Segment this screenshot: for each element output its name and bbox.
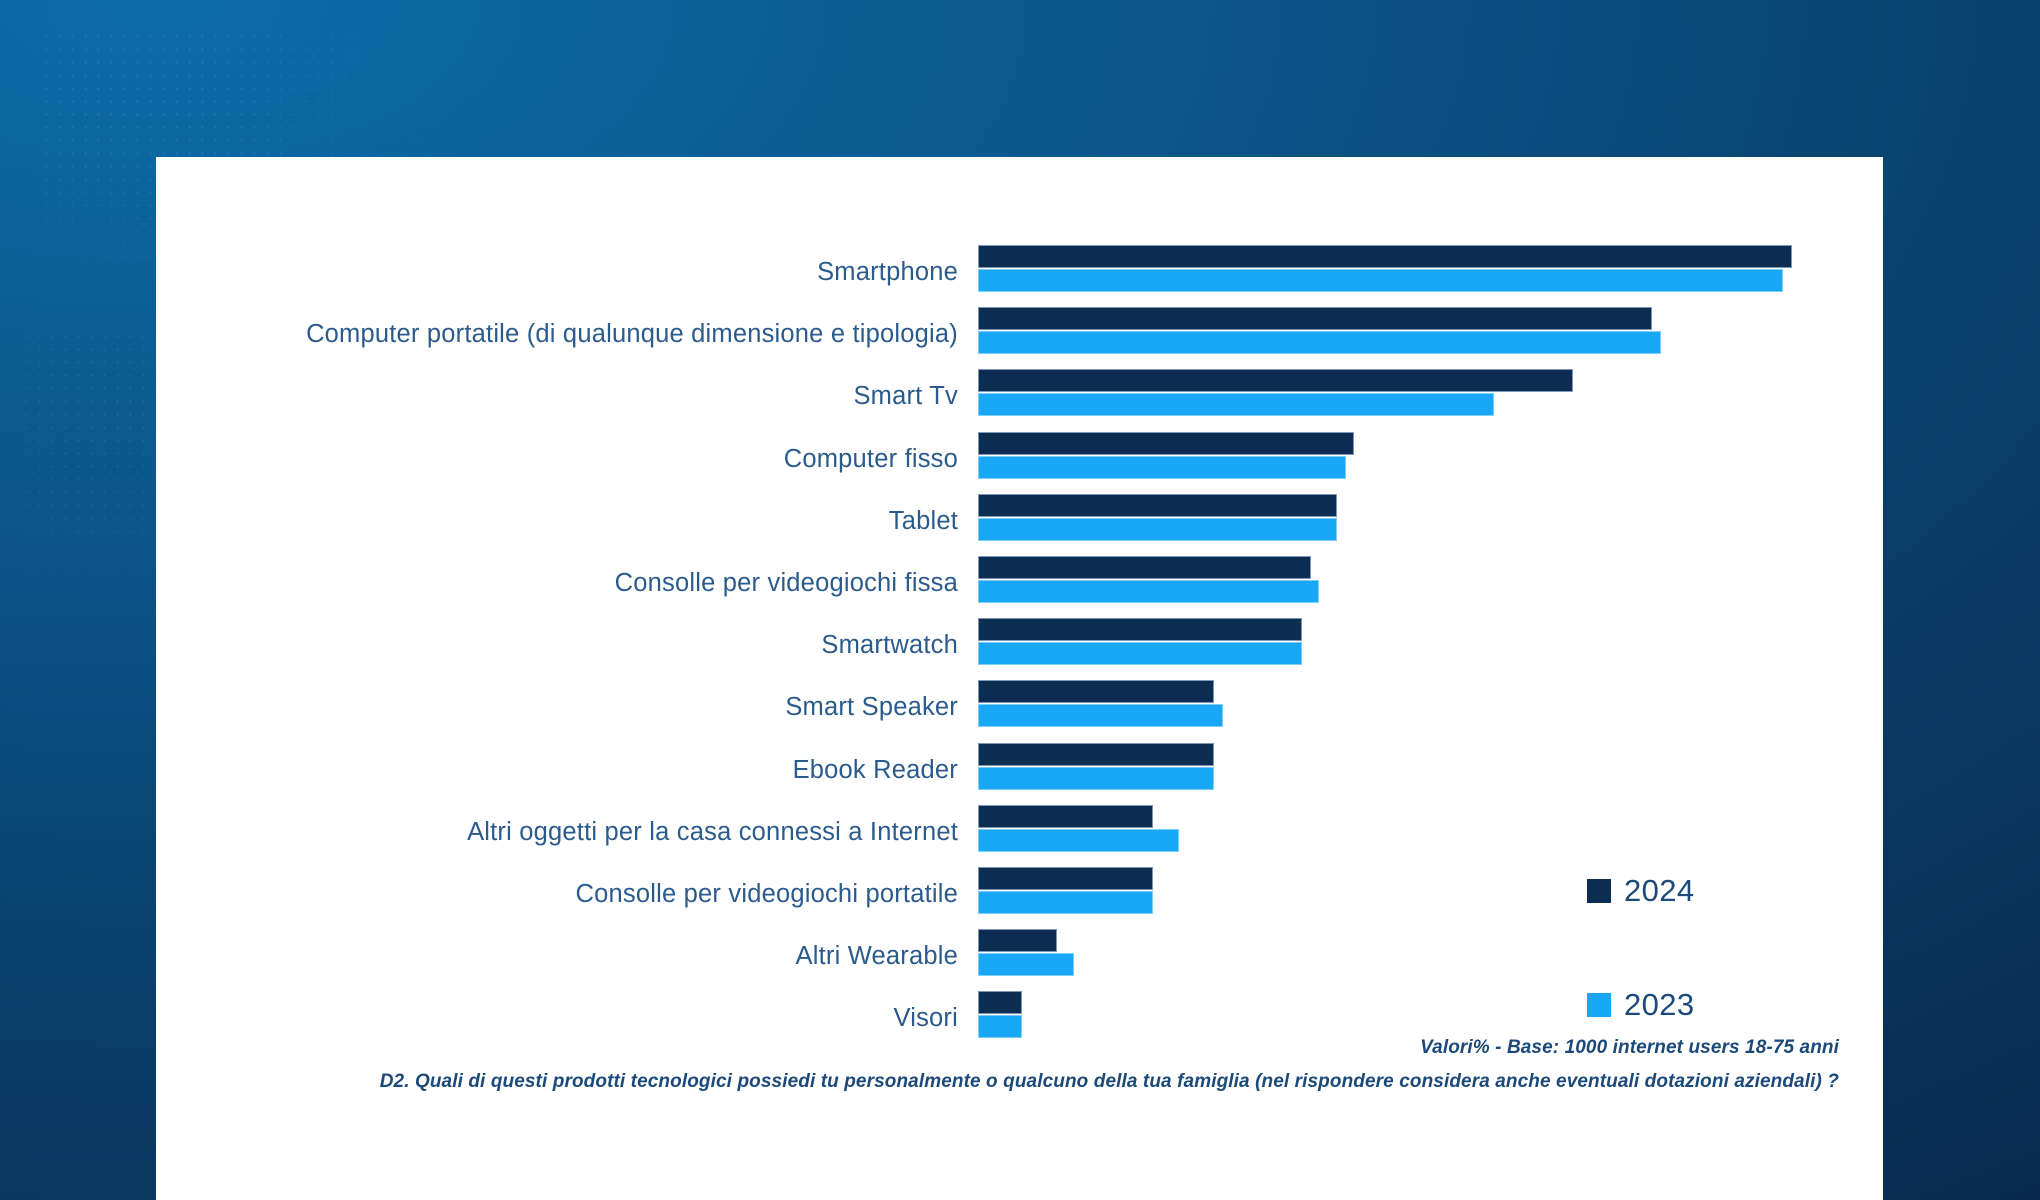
category-label: Altri oggetti per la casa connessi a Int… [156,818,978,846]
bar-group [978,241,1883,303]
bar-2024-1[interactable] [978,307,1652,330]
bar-group [978,490,1883,552]
chart-card: SmartphoneComputer portatile (di qualunq… [156,157,1883,1200]
slide: SmartphoneComputer portatile (di qualunq… [0,0,2040,1200]
category-label: Consolle per videogiochi portatile [156,880,978,908]
bar-2023-9[interactable] [978,829,1179,852]
bar-2024-7[interactable] [978,680,1214,703]
chart-row: Ebook Reader [156,739,1883,801]
bar-group [978,552,1883,614]
bar-2023-2[interactable] [978,393,1494,416]
chart-row: Consolle per videogiochi fissa [156,552,1883,614]
bar-2024-5[interactable] [978,556,1311,579]
bar-group [978,801,1883,863]
chart-row: Smartphone [156,241,1883,303]
chart-row: Computer fisso [156,428,1883,490]
bar-2024-12[interactable] [978,991,1022,1014]
bar-2024-6[interactable] [978,618,1302,641]
bar-2023-10[interactable] [978,891,1153,914]
chart-row: Tablet [156,490,1883,552]
category-label: Computer fisso [156,445,978,473]
bar-2023-8[interactable] [978,767,1214,790]
bar-group [978,739,1883,801]
category-label: Visori [156,1004,978,1032]
question-note: D2. Quali di questi prodotti tecnologici… [156,1071,1839,1093]
bar-group [978,676,1883,738]
bar-2023-5[interactable] [978,580,1319,603]
bar-2023-6[interactable] [978,642,1302,665]
chart-row: Smart Speaker [156,676,1883,738]
bar-2024-2[interactable] [978,369,1573,392]
category-label: Smart Speaker [156,693,978,721]
category-label: Computer portatile (di qualunque dimensi… [156,320,978,348]
chart-row: Smartwatch [156,614,1883,676]
bar-group [978,303,1883,365]
category-label: Ebook Reader [156,756,978,784]
bar-2024-3[interactable] [978,432,1354,455]
bar-2024-11[interactable] [978,929,1057,952]
bar-2023-1[interactable] [978,331,1661,354]
category-label: Altri Wearable [156,942,978,970]
chart-row: Smart Tv [156,365,1883,427]
legend-label-2023: 2023 [1624,987,1695,1023]
bar-group [978,428,1883,490]
bar-2023-7[interactable] [978,704,1223,727]
bar-2023-11[interactable] [978,953,1074,976]
bar-group [978,365,1883,427]
bar-chart: SmartphoneComputer portatile (di qualunq… [156,157,1883,1200]
bar-2024-8[interactable] [978,743,1214,766]
chart-legend: 2024 2023 [1587,873,1827,1101]
legend-swatch-2024-icon [1587,879,1611,903]
legend-label-2024: 2024 [1624,873,1695,909]
bar-2024-0[interactable] [978,245,1792,268]
bar-2023-4[interactable] [978,518,1337,541]
base-note: Valori% - Base: 1000 internet users 18-7… [1420,1037,1839,1059]
legend-swatch-2023-icon [1587,993,1611,1017]
category-label: Smart Tv [156,382,978,410]
chart-row: Computer portatile (di qualunque dimensi… [156,303,1883,365]
category-label: Consolle per videogiochi fissa [156,569,978,597]
legend-item-2024[interactable]: 2024 [1587,873,1827,909]
bar-2023-3[interactable] [978,456,1346,479]
category-label: Smartphone [156,258,978,286]
bar-2023-0[interactable] [978,269,1783,292]
legend-item-2023[interactable]: 2023 [1587,987,1827,1023]
bar-2024-4[interactable] [978,494,1337,517]
bar-2023-12[interactable] [978,1015,1022,1038]
bar-2024-9[interactable] [978,805,1153,828]
chart-row: Altri oggetti per la casa connessi a Int… [156,801,1883,863]
category-label: Tablet [156,507,978,535]
bar-2024-10[interactable] [978,867,1153,890]
category-label: Smartwatch [156,631,978,659]
bar-group [978,614,1883,676]
